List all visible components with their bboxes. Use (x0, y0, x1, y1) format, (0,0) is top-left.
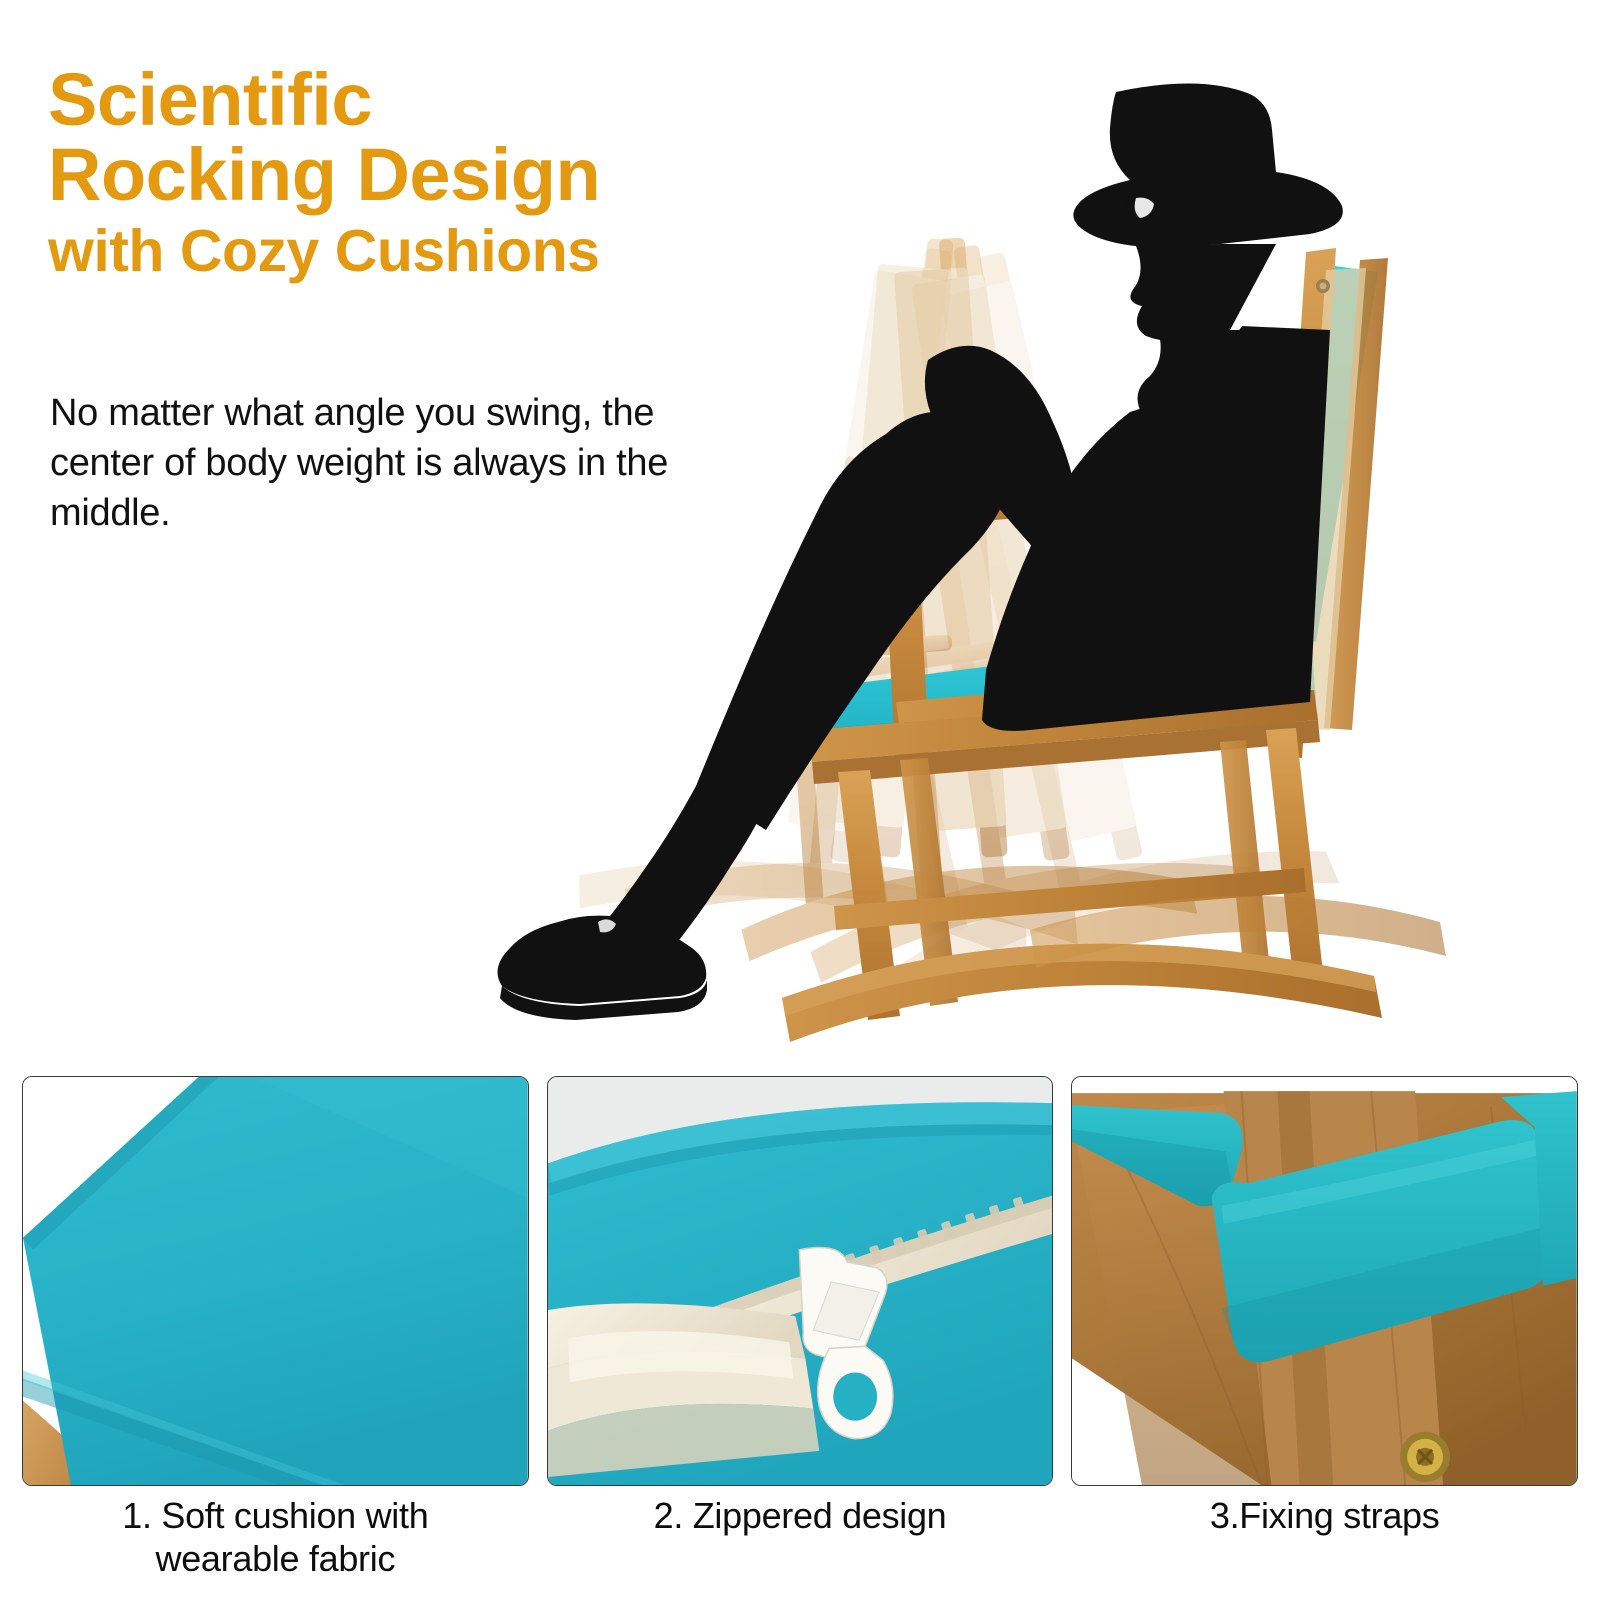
panel-fixing-straps (1071, 1076, 1578, 1486)
panel-soft-cushion (22, 1076, 529, 1486)
hero-illustration (430, 30, 1600, 1050)
caption-1-line-2: wearable fabric (22, 1537, 529, 1580)
detail-panel-row (22, 1076, 1578, 1486)
panel-zipper (547, 1076, 1054, 1486)
caption-1-line-1: 1. Soft cushion with (122, 1495, 428, 1536)
brass-screw (1400, 1432, 1450, 1482)
infographic-page: Scientific Rocking Design with Cozy Cush… (0, 0, 1600, 1600)
caption-2-line-1: 2. Zippered design (654, 1495, 947, 1536)
caption-3-line-1: 3.Fixing straps (1210, 1495, 1440, 1536)
caption-soft-cushion: 1. Soft cushion with wearable fabric (22, 1494, 529, 1580)
caption-zippered-design: 2. Zippered design (547, 1494, 1054, 1580)
caption-row: 1. Soft cushion with wearable fabric 2. … (22, 1494, 1578, 1580)
caption-fixing-straps: 3.Fixing straps (1071, 1494, 1578, 1580)
